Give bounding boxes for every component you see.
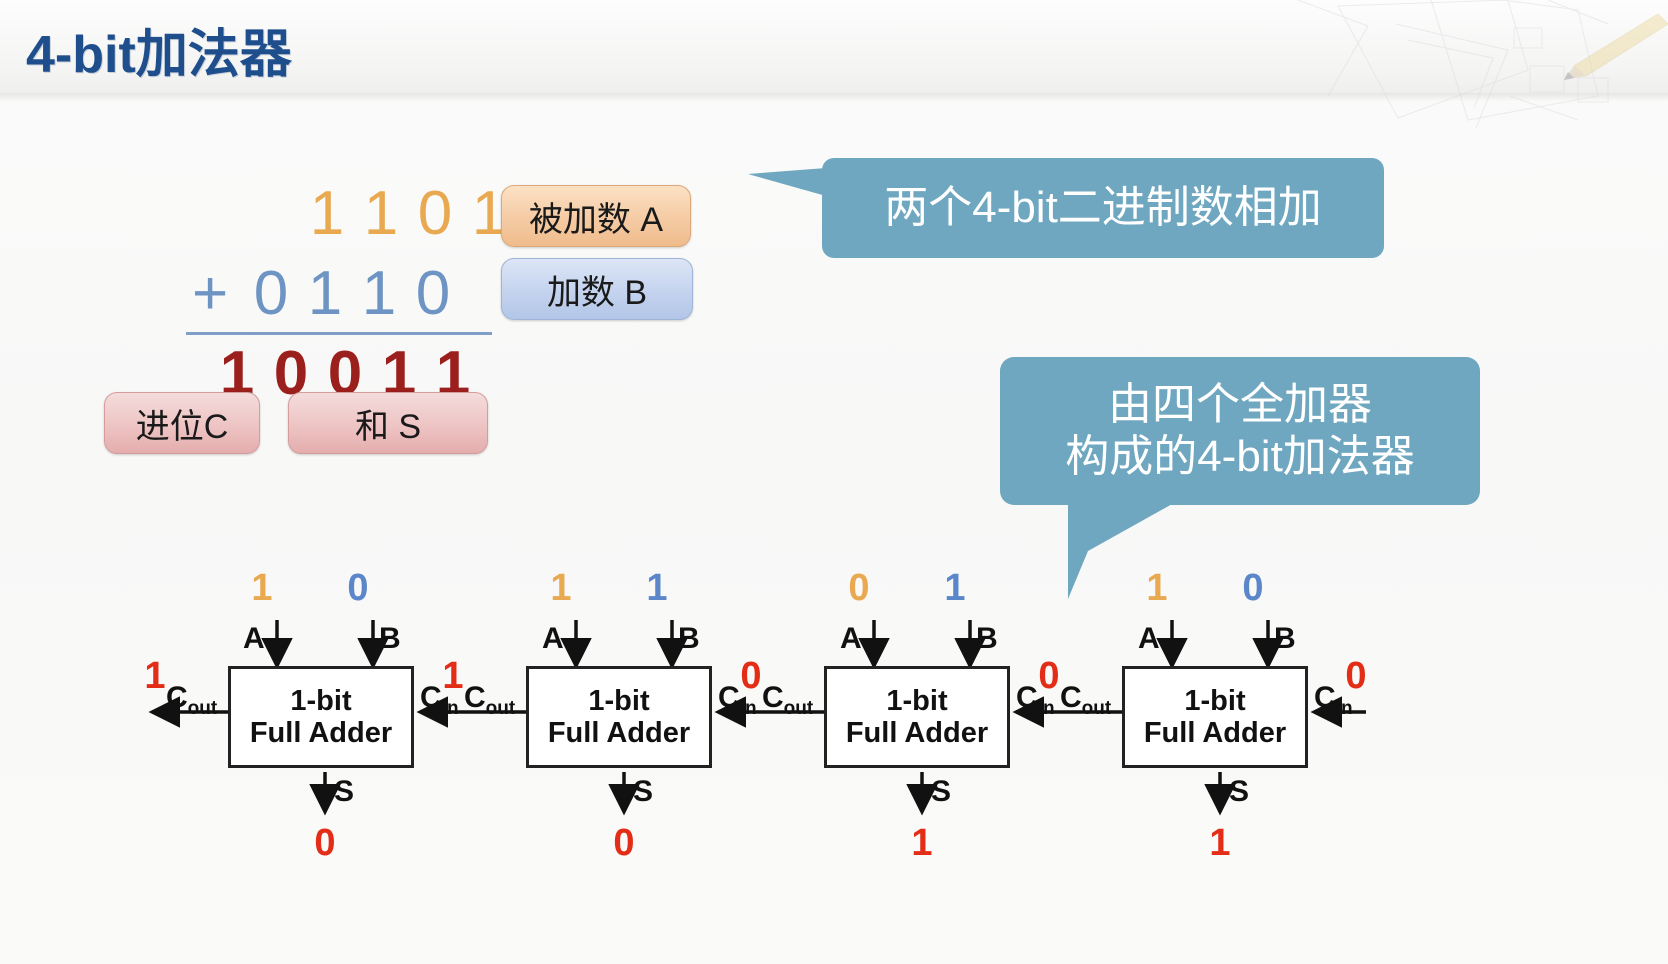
adder-2-b-bit: 1 bbox=[637, 567, 677, 610]
adder-1-sum-value: 0 bbox=[305, 822, 345, 865]
adder-4-a-bit: 1 bbox=[1137, 567, 1177, 610]
adder-2-port-b-label: B bbox=[678, 622, 700, 656]
adder-1-port-b-label: B bbox=[379, 622, 401, 656]
adder-2-sum-value: 0 bbox=[604, 822, 644, 865]
carry-value-1: 1 bbox=[437, 655, 469, 698]
adder-4-port-a-label: A bbox=[1138, 622, 1160, 656]
carry-value-3: 0 bbox=[1033, 655, 1065, 698]
adder-2-a-bit: 1 bbox=[541, 567, 581, 610]
full-adder-block-4: 1-bit Full Adder bbox=[1122, 666, 1308, 768]
carry-value-in: 0 bbox=[1340, 655, 1372, 698]
full-adder-block-3: 1-bit Full Adder bbox=[824, 666, 1010, 768]
adder-3-port-a-label: A bbox=[840, 622, 862, 656]
adder-4-sum-value: 1 bbox=[1200, 822, 1240, 865]
adder-2-title-line2: Full Adder bbox=[548, 717, 690, 749]
adder-4-b-bit: 0 bbox=[1233, 567, 1273, 610]
adder-1-port-a-label: A bbox=[243, 622, 265, 656]
adder-4-title-line2: Full Adder bbox=[1144, 717, 1286, 749]
adder-1-port-s-label: S bbox=[334, 775, 354, 809]
adder-3-title-line2: Full Adder bbox=[846, 717, 988, 749]
adder-4-title-line1: 1-bit bbox=[1184, 685, 1245, 717]
adder-3-b-bit: 1 bbox=[935, 567, 975, 610]
full-adder-block-2: 1-bit Full Adder bbox=[526, 666, 712, 768]
adder-1-a-bit: 1 bbox=[242, 567, 282, 610]
adder-3-a-bit: 0 bbox=[839, 567, 879, 610]
adder-2-cout-label: Cout bbox=[464, 681, 515, 720]
adder-2-port-a-label: A bbox=[542, 622, 564, 656]
four-bit-adder-diagram: 1 0 A B 1-bit Full Adder Cout Cin S 0 1 … bbox=[0, 0, 1668, 964]
adder-1-b-bit: 0 bbox=[338, 567, 378, 610]
adder-3-cout-label: Cout bbox=[762, 681, 813, 720]
adder-3-sum-value: 1 bbox=[902, 822, 942, 865]
adder-4-cout-label: Cout bbox=[1060, 681, 1111, 720]
adder-3-port-b-label: B bbox=[976, 622, 998, 656]
carry-value-2: 0 bbox=[735, 655, 767, 698]
adder-3-title-line1: 1-bit bbox=[886, 685, 947, 717]
adder-1-title-line1: 1-bit bbox=[290, 685, 351, 717]
carry-value-out: 1 bbox=[139, 655, 171, 698]
adder-2-port-s-label: S bbox=[633, 775, 653, 809]
adder-1-title-line2: Full Adder bbox=[250, 717, 392, 749]
full-adder-block-1: 1-bit Full Adder bbox=[228, 666, 414, 768]
adder-2-title-line1: 1-bit bbox=[588, 685, 649, 717]
adder-4-port-s-label: S bbox=[1229, 775, 1249, 809]
slide-root: 4-bit加法器 1101 + bbox=[0, 0, 1668, 964]
adder-3-port-s-label: S bbox=[931, 775, 951, 809]
adder-1-cout-label: Cout bbox=[166, 681, 217, 720]
diagram-wires bbox=[0, 0, 1668, 964]
adder-4-port-b-label: B bbox=[1274, 622, 1296, 656]
